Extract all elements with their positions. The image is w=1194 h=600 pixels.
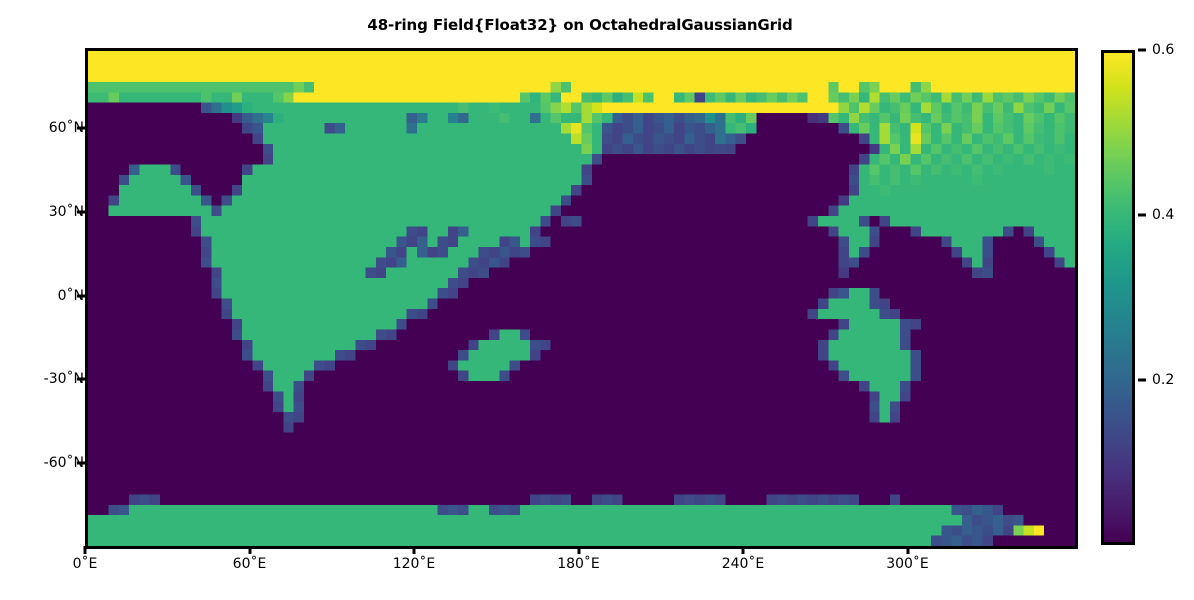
colorbar-tick-label: 0.6 [1152, 42, 1174, 58]
colorbar-tick-mark [1138, 214, 1146, 217]
y-tick-mark [77, 378, 85, 381]
x-tick-label: 120˚E [393, 556, 436, 572]
colorbar-tick-mark [1138, 379, 1146, 382]
x-tick-label: 240˚E [722, 556, 765, 572]
figure-canvas: 48-ring Field{Float32} on OctahedralGaus… [0, 0, 1194, 600]
heatmap-image [88, 51, 1075, 546]
page-title: 48-ring Field{Float32} on OctahedralGaus… [0, 16, 1160, 34]
colorbar-tick-label: 0.4 [1152, 207, 1174, 223]
x-tick-mark [577, 546, 580, 554]
x-tick-label: 300˚E [886, 556, 929, 572]
y-tick-mark [77, 210, 85, 213]
y-tick-mark [77, 462, 85, 465]
x-tick-mark [84, 546, 87, 554]
x-tick-mark [413, 546, 416, 554]
x-tick-mark [248, 546, 251, 554]
x-tick-mark [742, 546, 745, 554]
x-tick-label: 0˚E [73, 556, 98, 572]
x-tick-label: 180˚E [557, 556, 600, 572]
heatmap-axes [85, 48, 1078, 549]
colorbar-gradient [1101, 50, 1135, 545]
x-tick-mark [906, 546, 909, 554]
colorbar [1101, 50, 1135, 545]
y-tick-mark [77, 126, 85, 129]
colorbar-tick-label: 0.2 [1152, 372, 1174, 388]
y-tick-mark [77, 294, 85, 297]
colorbar-tick-mark [1138, 49, 1146, 52]
x-tick-label: 60˚E [233, 556, 267, 572]
